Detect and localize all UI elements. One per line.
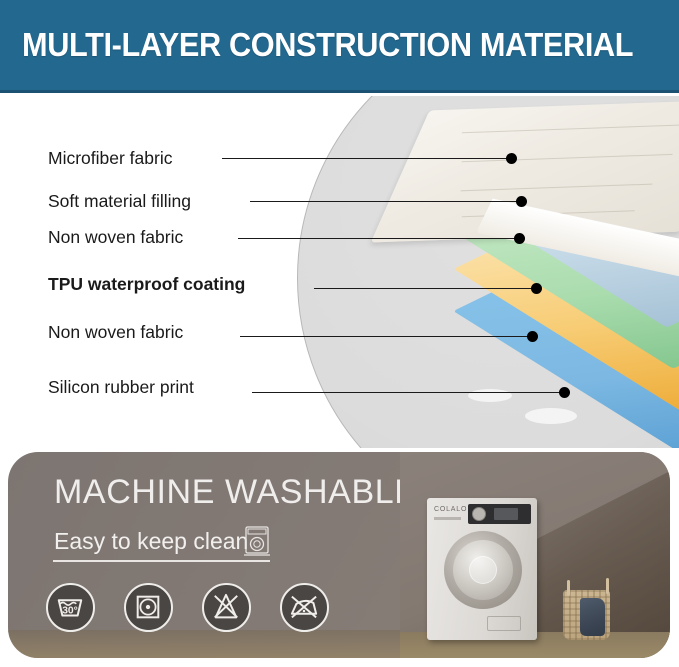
layer-label-soft-material-filling: Soft material filling	[48, 191, 191, 212]
leader-line-3	[238, 238, 520, 239]
washing-machine-body: COLALO	[427, 498, 537, 640]
layer-dot-4	[531, 283, 542, 294]
laundry-basket-handle-left	[567, 580, 570, 596]
header-banner: MULTI-LAYER CONSTRUCTION MATERIAL	[0, 0, 679, 93]
layer-label-non-woven-fabric-top: Non woven fabric	[48, 227, 183, 248]
washing-machine-drum	[469, 556, 497, 584]
silicon-print-dot-1	[468, 389, 512, 402]
wash-temperature-label: 30°	[62, 606, 78, 617]
subtitle-underline	[53, 560, 270, 562]
leader-line-6	[252, 392, 564, 393]
care-icon-wash-30: 30°	[46, 583, 95, 632]
leader-line-5	[240, 336, 534, 337]
leader-line-4	[314, 288, 538, 289]
layer-label-microfiber-fabric: Microfiber fabric	[48, 148, 172, 169]
layer-dot-5	[527, 331, 538, 342]
layer-dot-3	[514, 233, 525, 244]
layer-dot-2	[516, 196, 527, 207]
layer-label-tpu-waterproof-coating: TPU waterproof coating	[48, 274, 245, 295]
washing-machine-brand: COLALO	[434, 506, 467, 513]
page-title: MULTI-LAYER CONSTRUCTION MATERIAL	[22, 26, 633, 64]
washing-machine-door-glass	[453, 540, 513, 600]
laundry-cloth	[580, 598, 605, 636]
silicon-print-dot-2	[525, 408, 577, 424]
layer-dot-1	[506, 153, 517, 164]
care-icon-do-not-iron	[280, 583, 329, 632]
washing-machine-door	[444, 531, 522, 609]
machine-washable-title: MACHINE WASHABLE	[54, 473, 418, 512]
washing-machine-brand-underline	[434, 517, 461, 520]
mini-washing-machine-icon	[244, 526, 270, 557]
layer-dot-6	[559, 387, 570, 398]
washing-machine-photo: COLALO	[400, 452, 670, 658]
infographic-page: MULTI-LAYER CONSTRUCTION MATERIAL	[0, 0, 679, 667]
care-icon-tumble-dry	[124, 583, 173, 632]
layer-label-non-woven-fabric-bottom: Non woven fabric	[48, 322, 183, 343]
layer-label-silicon-rubber-print: Silicon rubber print	[48, 377, 194, 398]
easy-to-keep-clean-text: Easy to keep clean	[54, 528, 248, 555]
washing-machine-dial	[472, 507, 486, 521]
washing-machine-control-panel	[468, 504, 531, 524]
washing-machine-display	[494, 508, 518, 520]
leader-line-2	[250, 201, 522, 202]
leader-line-1	[222, 158, 512, 159]
laundry-basket-handle-right	[606, 578, 609, 594]
washing-machine-detergent-drawer	[487, 616, 521, 631]
care-icon-do-not-bleach	[202, 583, 251, 632]
machine-washable-panel: MACHINE WASHABLE Easy to keep clean COLA…	[8, 452, 670, 658]
